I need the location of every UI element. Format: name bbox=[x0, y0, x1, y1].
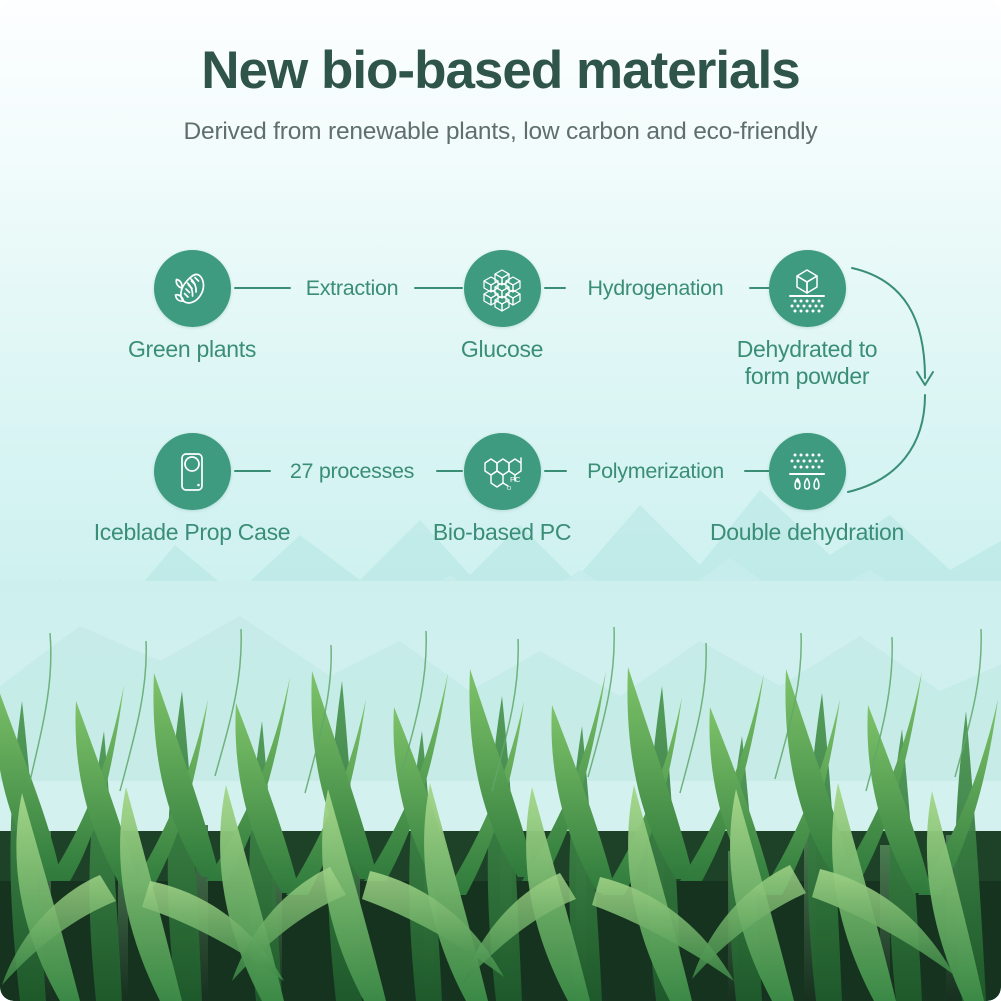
flow-node-icon-wrapper: O PC bbox=[464, 433, 541, 510]
molecule-pc-icon: O PC bbox=[478, 448, 526, 496]
flow-node-label: Glucose bbox=[402, 336, 602, 363]
flow-node-icon-wrapper bbox=[769, 433, 846, 510]
corn-icon bbox=[169, 266, 215, 312]
flow-node-double-dehydration[interactable]: Double dehydration bbox=[707, 433, 907, 546]
phone-case-icon bbox=[170, 450, 214, 494]
flow-node-glucose[interactable]: Glucose bbox=[402, 250, 602, 363]
flow-node-label: Green plants bbox=[92, 336, 292, 363]
droplet-dehydration-icon bbox=[783, 448, 831, 496]
flow-node-icon-wrapper bbox=[154, 433, 231, 510]
flow-node-green-plants[interactable]: Green plants bbox=[92, 250, 292, 363]
flow-node-label: Double dehydration bbox=[707, 519, 907, 546]
sugarcane-illustration bbox=[0, 581, 1001, 1001]
flow-node-icon-wrapper bbox=[769, 250, 846, 327]
oxygen-label: O bbox=[507, 486, 512, 492]
flow-node-label: Iceblade Prop Case bbox=[92, 519, 292, 546]
poster-root: New bio-based materials Derived from ren… bbox=[0, 0, 1001, 1001]
flow-node-iceblade-prop-case[interactable]: Iceblade Prop Case bbox=[92, 433, 292, 546]
flow-node-dehydrated-powder[interactable]: Dehydrated to form powder bbox=[707, 250, 907, 390]
sugar-cubes-icon bbox=[479, 266, 525, 312]
flow-node-label: Dehydrated to form powder bbox=[707, 336, 907, 390]
cube-dehydration-icon bbox=[783, 265, 831, 313]
flow-node-icon-wrapper bbox=[464, 250, 541, 327]
flow-node-icon-wrapper bbox=[154, 250, 231, 327]
sugarcane-field-photo bbox=[0, 581, 1001, 1001]
process-flow-diagram: Extraction Hydrogenation 27 processes Po… bbox=[0, 0, 1001, 600]
pc-label: PC bbox=[510, 475, 521, 484]
flow-node-bio-based-pc[interactable]: O PC Bio-based PC bbox=[402, 433, 602, 546]
flow-node-label: Bio-based PC bbox=[402, 519, 602, 546]
